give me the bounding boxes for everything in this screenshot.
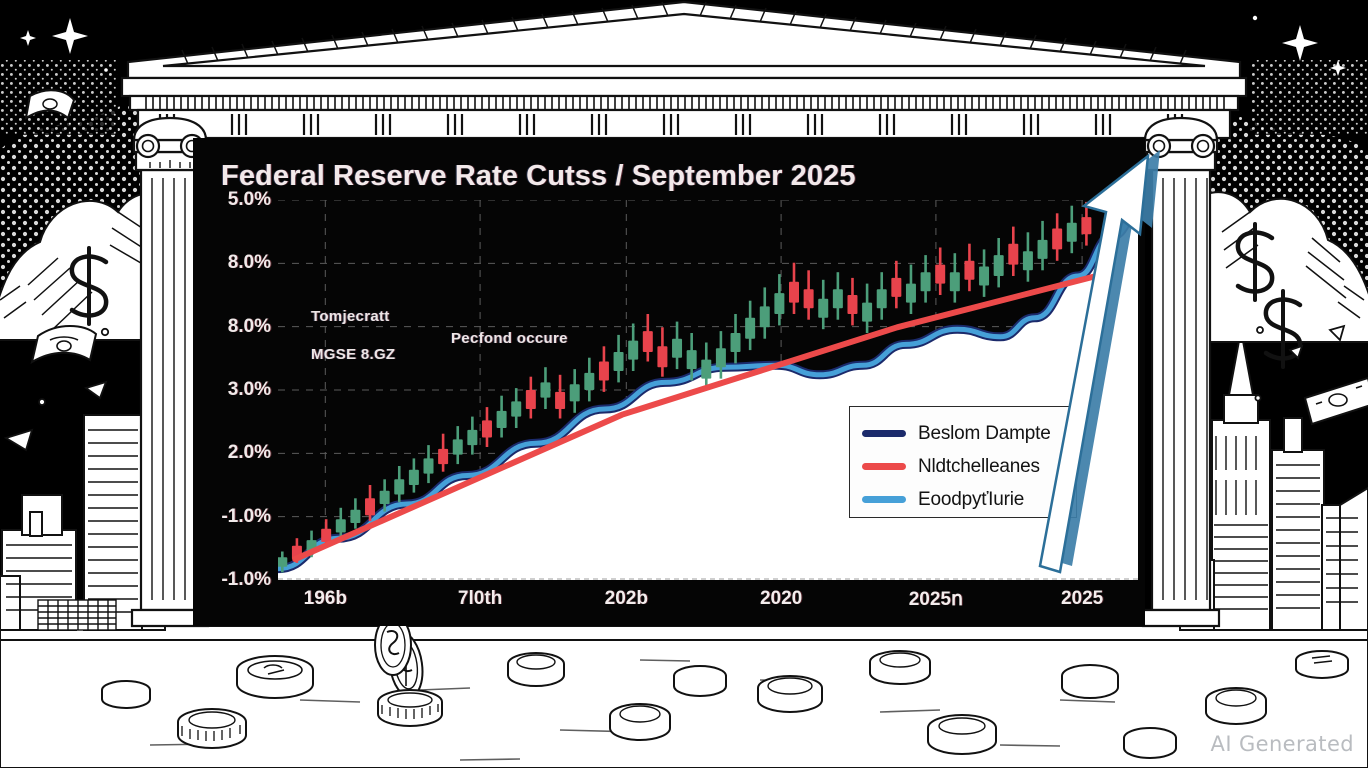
coin bbox=[508, 653, 564, 686]
legend-item[interactable]: Nldtchelleanes bbox=[862, 450, 1064, 483]
watermark: AI Generated bbox=[1211, 732, 1354, 756]
coin bbox=[870, 651, 930, 684]
y-axis-labels: 5.0%8.0%8.0%3.0%2.0%-1.0%-1.0% bbox=[193, 200, 271, 580]
legend-item[interactable]: EoodpyťIurie bbox=[862, 483, 1064, 516]
coin bbox=[928, 715, 996, 754]
coin bbox=[674, 666, 726, 696]
coin bbox=[610, 704, 670, 740]
coin bbox=[1124, 728, 1176, 758]
y-tick-label: 3.0% bbox=[228, 379, 271, 401]
x-tick-label: 2025 bbox=[1061, 588, 1103, 610]
chart-annotation: MGSE 8.GZ bbox=[311, 346, 395, 363]
left-hatch-block bbox=[38, 600, 116, 630]
x-tick-label: 202b bbox=[605, 588, 648, 610]
plot-area bbox=[278, 200, 1138, 580]
legend-color-swatch bbox=[862, 496, 906, 503]
y-tick-label: 8.0% bbox=[228, 316, 271, 338]
coin bbox=[1296, 651, 1348, 678]
x-tick-label: 196b bbox=[304, 588, 347, 610]
coin bbox=[237, 656, 313, 698]
x-axis-labels: 196b7l0th202b20202025ո2025 bbox=[278, 586, 1138, 620]
chart-annotation: Tomjecratt bbox=[311, 308, 390, 325]
chart-legend: Beslom DampteNldtchelleanesEoodpyťIurie bbox=[849, 406, 1077, 518]
y-tick-label: -1.0% bbox=[221, 569, 271, 591]
x-tick-label: 7l0th bbox=[458, 588, 502, 610]
legend-label: Beslom Dampte bbox=[918, 423, 1051, 445]
y-tick-label: 5.0% bbox=[228, 189, 271, 211]
coin bbox=[758, 676, 822, 712]
legend-color-swatch bbox=[862, 463, 906, 470]
illustration-canvas: Federal Reserve Rate Cutss / September 2… bbox=[0, 0, 1368, 768]
coin bbox=[378, 690, 442, 726]
y-tick-label: 2.0% bbox=[228, 442, 271, 464]
dentil-molding bbox=[146, 97, 1224, 109]
legend-label: EoodpyťIurie bbox=[918, 489, 1024, 511]
coin bbox=[1062, 665, 1118, 698]
coin bbox=[102, 681, 150, 708]
y-tick-label: -1.0% bbox=[221, 506, 271, 528]
x-tick-label: 2025ո bbox=[909, 588, 963, 611]
legend-item[interactable]: Beslom Dampte bbox=[862, 417, 1064, 450]
legend-color-swatch bbox=[862, 430, 906, 437]
x-tick-label: 2020 bbox=[760, 588, 802, 610]
legend-label: Nldtchelleanes bbox=[918, 456, 1040, 478]
y-tick-label: 8.0% bbox=[228, 252, 271, 274]
chart-annotation: Pecfond occure bbox=[451, 330, 568, 347]
chart-screen: Federal Reserve Rate Cutss / September 2… bbox=[193, 138, 1145, 626]
coin bbox=[1206, 688, 1266, 724]
chart-title: Federal Reserve Rate Cutss / September 2… bbox=[221, 160, 856, 193]
coin bbox=[178, 709, 246, 748]
